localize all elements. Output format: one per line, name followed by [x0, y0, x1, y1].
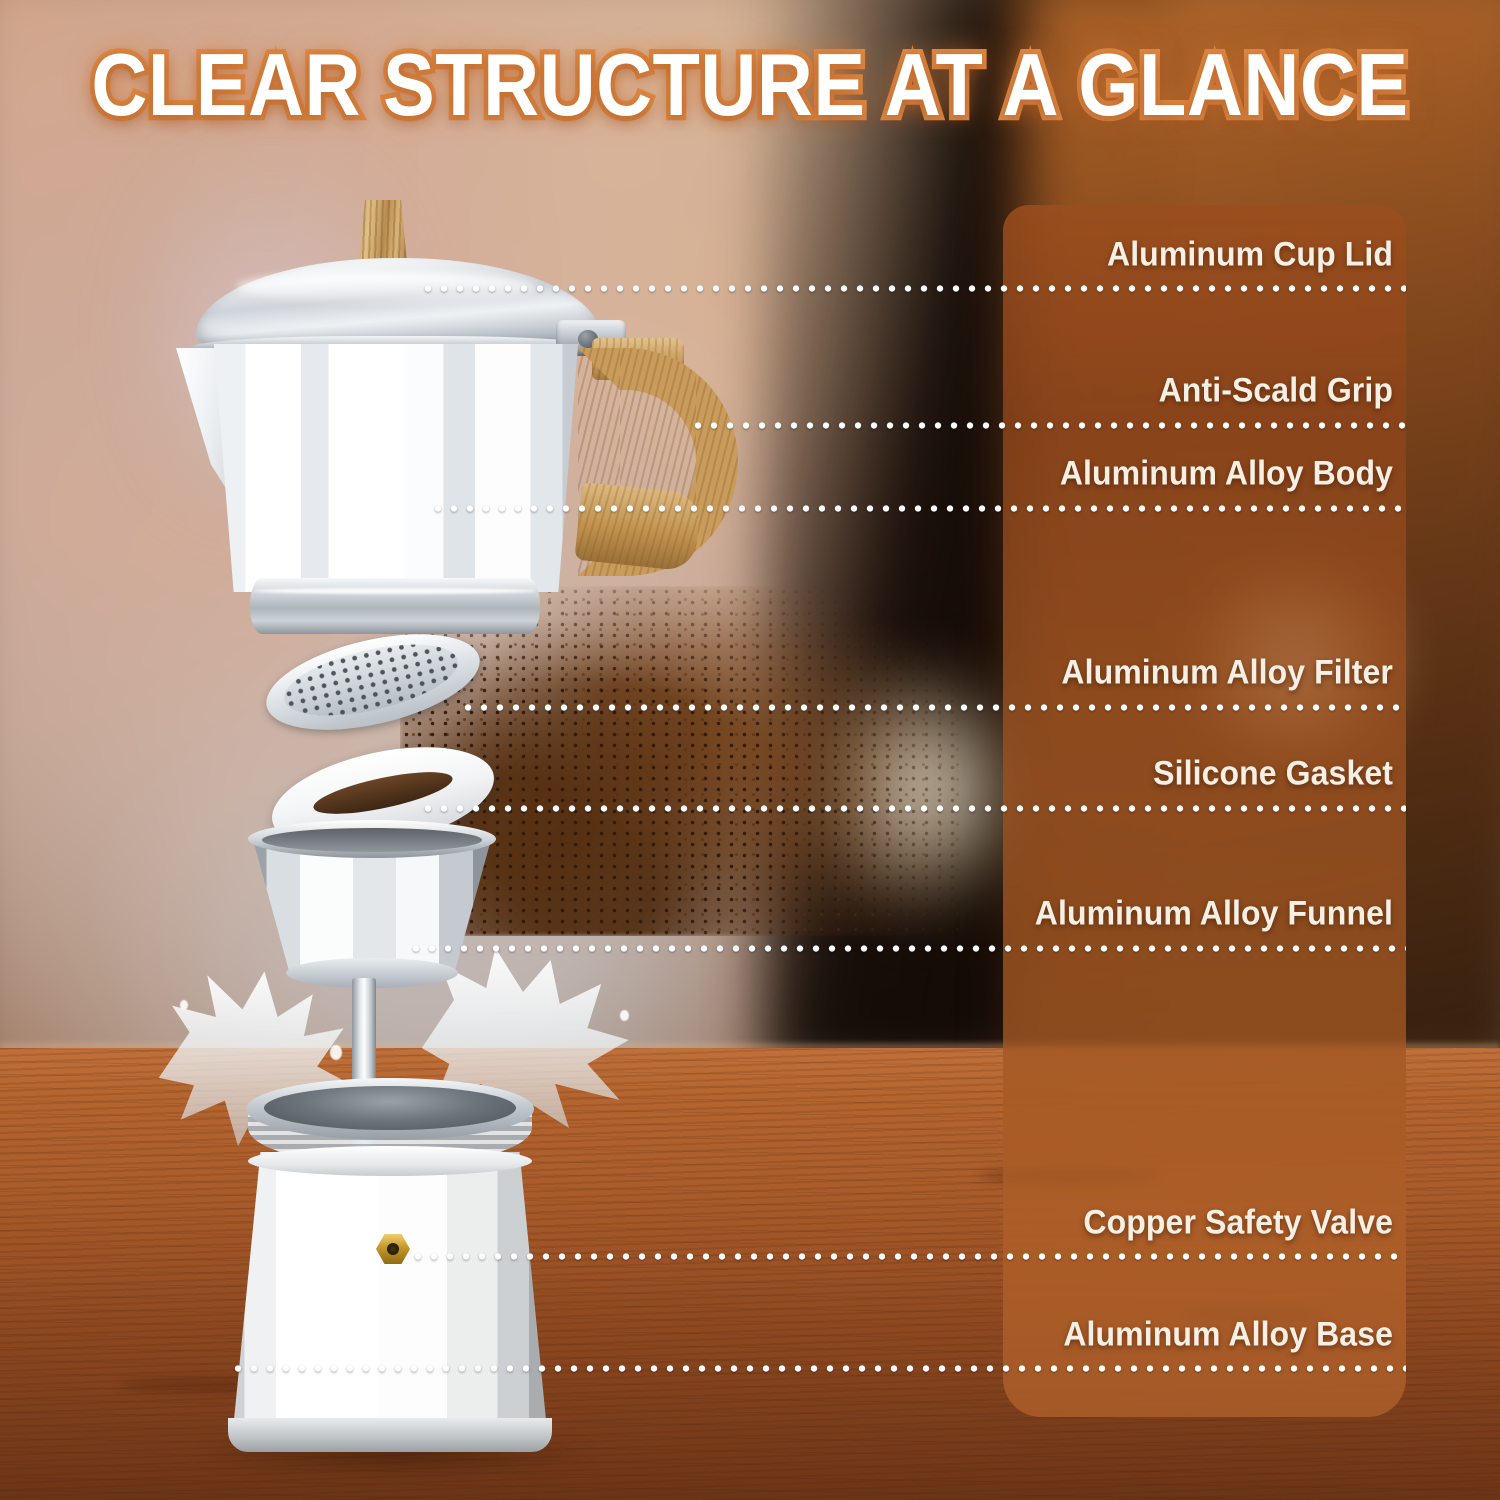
aluminum-alloy-base [232, 1152, 548, 1440]
callout-label-text: Aluminum Cup Lid [1107, 235, 1393, 274]
callout-label-gasket: Silicone Gasket [1003, 755, 1393, 792]
leader-line-base [230, 1364, 1406, 1373]
callout-label-funnel: Aluminum Alloy Funnel [1003, 895, 1393, 932]
callout-label-text: Aluminum Alloy Filter [1061, 653, 1393, 692]
water-droplet [620, 1010, 629, 1021]
body-collar-highlight [254, 588, 536, 594]
leader-line-body [430, 504, 1406, 513]
callout-label-body: Aluminum Alloy Body [1003, 455, 1393, 492]
infographic-canvas: CLEAR STRUCTURE AT A GLANCE [0, 0, 1500, 1500]
callout-label-text: Silicone Gasket [1153, 754, 1393, 793]
base-shoulder-band [248, 1146, 532, 1176]
water-droplet [330, 1045, 342, 1060]
callout-label-grip: Anti-Scald Grip [1003, 372, 1393, 409]
body-base-collar [250, 578, 540, 634]
callout-label-text: Anti-Scald Grip [1159, 371, 1393, 410]
leader-line-grip [690, 421, 1406, 430]
callout-label-base: Aluminum Alloy Base [1003, 1316, 1393, 1353]
callout-label-text: Aluminum Alloy Body [1060, 454, 1393, 493]
callout-label-valve: Copper Safety Valve [1003, 1204, 1393, 1241]
leader-line-funnel [408, 944, 1406, 953]
handle-lower-tail [574, 482, 701, 572]
water-droplet [180, 1000, 188, 1010]
leader-line-gasket [420, 804, 1406, 813]
aluminum-alloy-body [198, 344, 594, 592]
safety-valve-port [387, 1243, 399, 1255]
callout-label-text: Copper Safety Valve [1083, 1203, 1393, 1242]
base-foot [228, 1418, 552, 1452]
callout-label-lid: Aluminum Cup Lid [1003, 236, 1393, 273]
moka-pot-exploded-illustration [0, 0, 1500, 1500]
leader-line-lid [420, 284, 1406, 293]
callout-label-text: Aluminum Alloy Funnel [1035, 894, 1393, 933]
leader-line-valve [410, 1252, 1406, 1261]
leader-line-filter [460, 703, 1406, 712]
base-water-chamber [264, 1086, 516, 1130]
funnel-interior [262, 828, 482, 852]
callout-label-filter: Aluminum Alloy Filter [1003, 654, 1393, 691]
callout-label-text: Aluminum Alloy Base [1063, 1315, 1393, 1354]
